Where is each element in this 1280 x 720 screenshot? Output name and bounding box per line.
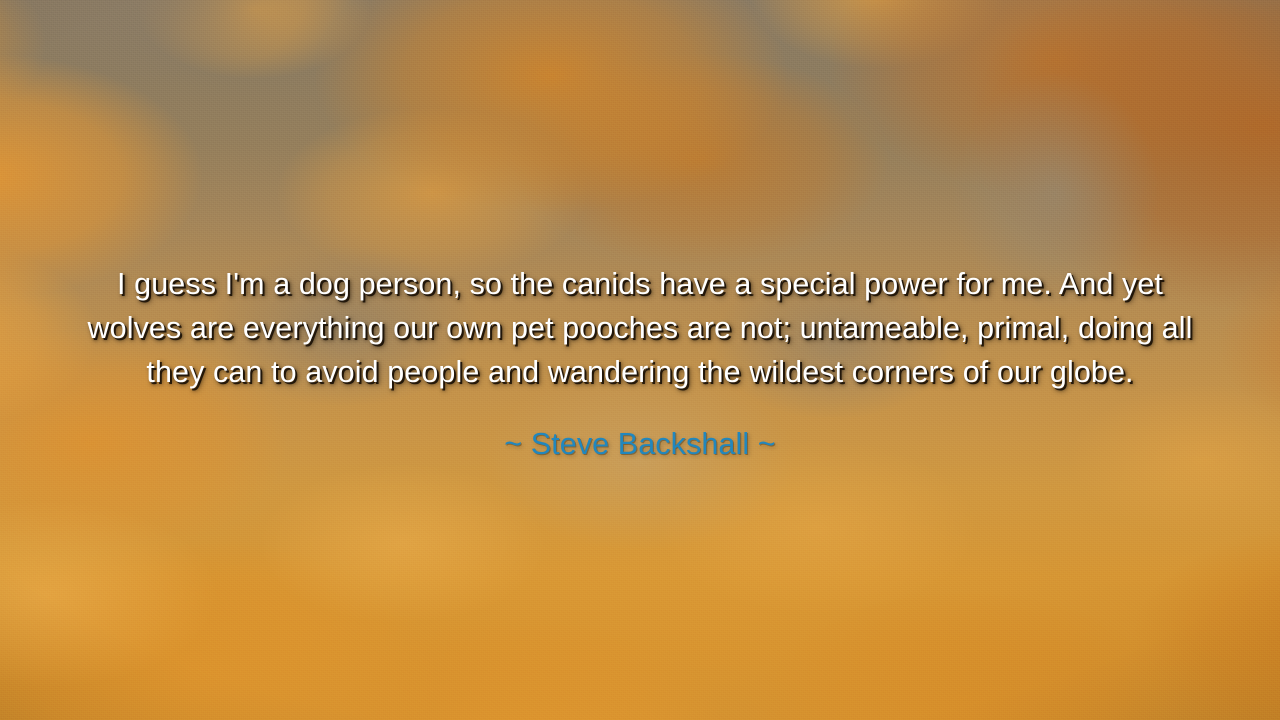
quote-text: I guess I'm a dog person, so the canids … <box>86 262 1194 394</box>
quote-block: I guess I'm a dog person, so the canids … <box>0 262 1280 464</box>
quote-card: I guess I'm a dog person, so the canids … <box>0 0 1280 720</box>
quote-attribution: ~ Steve Backshall ~ <box>86 394 1194 464</box>
